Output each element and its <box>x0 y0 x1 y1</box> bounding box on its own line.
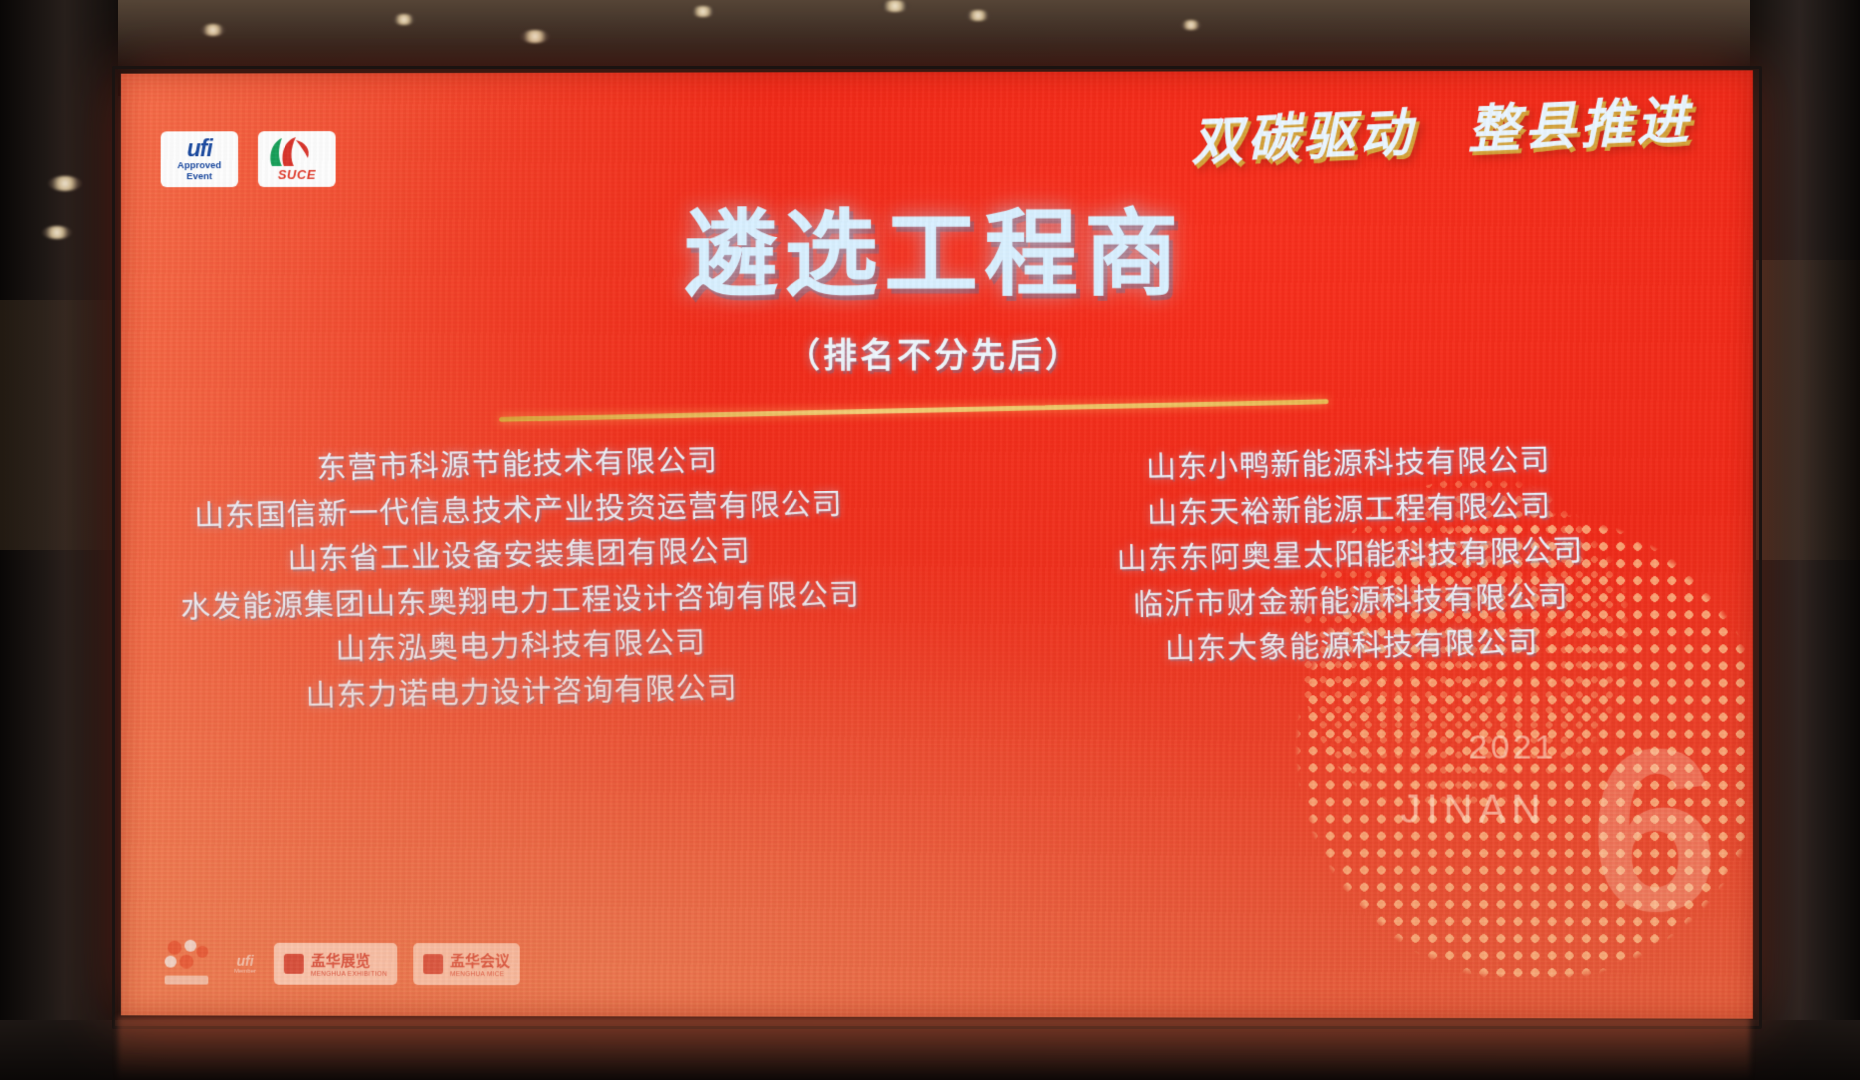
menghua-conference-cn: 孟华会议 <box>450 950 510 971</box>
ceiling-spotlight <box>48 176 82 191</box>
edition-number: 6 <box>1590 739 1713 924</box>
calligraphy-phrase-2: 整县推进 <box>1466 78 1694 163</box>
top-left-logo-group: ufi Approved Event SUCE <box>161 131 336 187</box>
menghua-exhibition-cn: 孟华展览 <box>311 950 388 971</box>
led-screen: 6 2021 JINAN ufi Approved Event SUCE <box>121 70 1753 1018</box>
menghua-exhibition-en: MENGHUA EXHIBITION <box>311 971 388 978</box>
ufi-logo-subline-1: Approved <box>177 161 221 171</box>
suce-leaf-icon <box>266 136 312 168</box>
company-name: 山东泓奥电力科技有限公司 <box>335 621 706 673</box>
wall-light-strip <box>0 300 112 550</box>
bottom-logo-bar: ufi Member 孟华展览 MENGHUA EXHIBITION 孟华会议 … <box>157 938 520 991</box>
floor-reflection <box>118 1017 1750 1080</box>
ceiling-spotlight <box>200 24 226 36</box>
sushang-logo-icon <box>157 938 217 990</box>
ceiling-glow <box>0 0 1860 70</box>
company-column-left: 东营市科源节能技术有限公司 山东国信新一代信息技术产业投资运营有限公司 山东省工… <box>121 434 932 722</box>
menghua-square-icon <box>284 954 304 974</box>
slide-subtitle: （排名不分先后） <box>121 327 1753 377</box>
company-name: 山东小鸭新能源科技有限公司 <box>1146 438 1551 492</box>
company-name: 东营市科源节能技术有限公司 <box>316 438 718 491</box>
menghua-exhibition-logo: 孟华展览 MENGHUA EXHIBITION <box>274 943 397 985</box>
ufi-logo-subline-2: Event <box>187 172 213 182</box>
menghua-conference-en: MENGHUA MICE <box>450 971 510 978</box>
ceiling-spotlight <box>42 226 72 239</box>
header-calligraphy: 双碳驱动 整县推进 <box>1189 78 1694 175</box>
ceiling-spotlight <box>392 14 416 25</box>
ceiling-spotlight <box>690 6 716 17</box>
ceiling-spotlight <box>1180 20 1202 30</box>
event-year: 2021 <box>1469 728 1557 767</box>
wall-light-strip <box>1756 260 1860 560</box>
ceiling-spotlight <box>965 10 991 21</box>
ufi-small-sub: Member <box>234 969 256 975</box>
ufi-approved-event-logo: ufi Approved Event <box>161 131 238 187</box>
company-name: 山东大象能源科技有限公司 <box>1165 621 1539 674</box>
photo-of-led-screen: 6 2021 JINAN ufi Approved Event SUCE <box>0 0 1860 1080</box>
title-block: 遴选工程商 （排名不分先后） <box>121 206 1753 377</box>
calligraphy-phrase-1: 双碳驱动 <box>1189 90 1417 175</box>
ufi-small-word: ufi <box>237 953 254 969</box>
company-name: 水发能源集团山东奥翔电力工程设计咨询有限公司 <box>180 572 860 630</box>
company-name: 临沂市财金新能源科技有限公司 <box>1133 575 1569 629</box>
gold-divider <box>499 399 1329 422</box>
suce-logo: SUCE <box>258 131 336 187</box>
ceiling-spotlight <box>880 0 910 12</box>
suce-logo-word: SUCE <box>278 167 316 182</box>
menghua-square-icon <box>423 954 443 974</box>
company-list: 东营市科源节能技术有限公司 山东国信新一代信息技术产业投资运营有限公司 山东省工… <box>121 442 1753 717</box>
ceiling-spotlight <box>520 30 550 43</box>
ufi-small-logo: ufi Member <box>232 947 258 981</box>
ufi-logo-word: ufi <box>187 137 212 160</box>
company-name: 山东力诺电力设计咨询有限公司 <box>305 666 738 720</box>
event-city: JINAN <box>1400 787 1546 832</box>
slide-title: 遴选工程商 <box>121 206 1753 307</box>
company-column-right: 山东小鸭新能源科技有限公司 山东天裕新能源工程有限公司 山东东阿奥星太阳能科技有… <box>926 434 1752 724</box>
company-name: 山东天裕新能源工程有限公司 <box>1146 483 1551 536</box>
menghua-conference-logo: 孟华会议 MENGHUA MICE <box>413 943 520 985</box>
